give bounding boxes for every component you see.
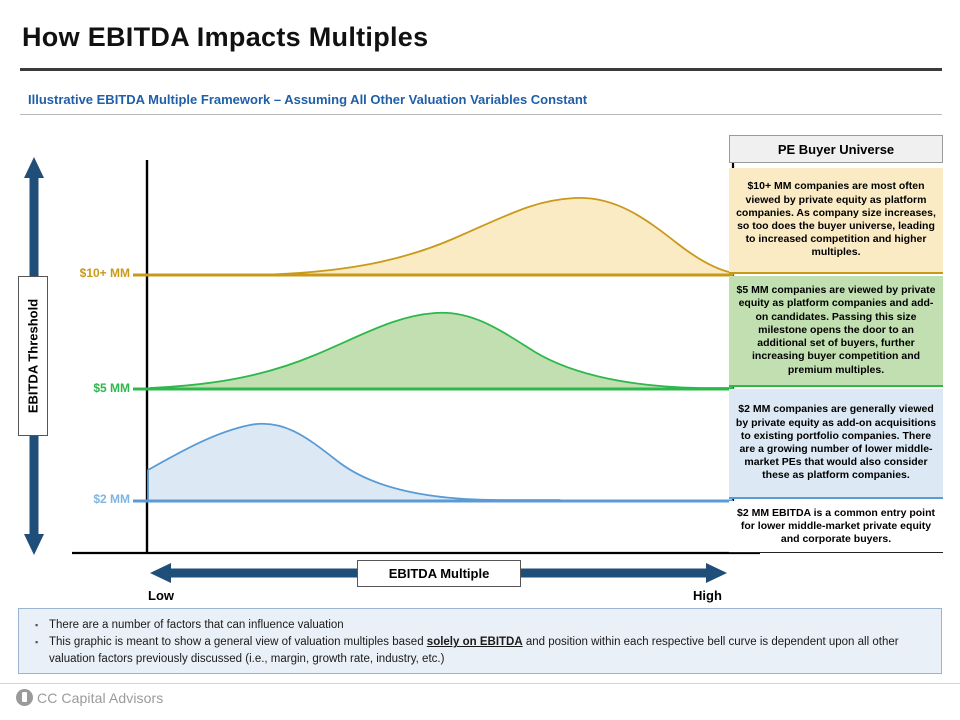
footnote-item: ▪ There are a number of factors that can… — [35, 617, 929, 633]
page-title: How EBITDA Impacts Multiples — [22, 22, 428, 53]
y-tick-label-5mm: $5 MM — [58, 381, 130, 395]
circle-monogram-icon — [16, 689, 33, 706]
pe-buyer-note-entry: $2 MM EBITDA is a common entry point for… — [729, 501, 943, 553]
pe-buyer-note-2mm: $2 MM companies are generally viewed by … — [729, 389, 943, 499]
page-subtitle: Illustrative EBITDA Multiple Framework –… — [28, 92, 587, 107]
footnote-text-2: This graphic is meant to show a general … — [49, 634, 929, 667]
pe-buyer-note-5mm: $5 MM companies are viewed by private eq… — [729, 276, 943, 387]
x-axis-high-label: High — [693, 588, 722, 603]
pe-buyer-note-10mm: $10+ MM companies are most often viewed … — [729, 168, 943, 274]
footnote-item: ▪ This graphic is meant to show a genera… — [35, 634, 929, 667]
x-axis-low-label: Low — [148, 588, 174, 603]
y-tick-label-2mm: $2 MM — [58, 492, 130, 506]
footer-logo: CC Capital Advisors — [16, 689, 163, 706]
bullet-icon: ▪ — [35, 617, 49, 633]
title-divider — [20, 68, 942, 71]
y-axis-title: EBITDA Threshold — [26, 299, 41, 413]
footnote-2-pre: This graphic is meant to show a general … — [49, 636, 427, 648]
footer-divider — [0, 683, 960, 684]
pe-buyer-universe-title: PE Buyer Universe — [729, 135, 943, 163]
footnote-2-emphasis: solely on EBITDA — [427, 636, 523, 648]
company-name: CC Capital Advisors — [37, 690, 163, 706]
bullet-icon: ▪ — [35, 634, 49, 650]
footnotes-box: ▪ There are a number of factors that can… — [18, 608, 942, 674]
bell-curve-2mm — [133, 424, 733, 501]
y-axis-title-box: EBITDA Threshold — [18, 276, 48, 436]
bell-curve-10mm — [133, 198, 733, 275]
footnote-1-pre: There are a number of factors that can i… — [49, 619, 344, 631]
subtitle-divider — [20, 114, 942, 115]
y-tick-label-10mm: $10+ MM — [58, 266, 130, 280]
bell-curve-5mm — [133, 313, 733, 389]
footnote-text-1: There are a number of factors that can i… — [49, 617, 929, 633]
x-axis-title-box: EBITDA Multiple — [357, 560, 521, 587]
